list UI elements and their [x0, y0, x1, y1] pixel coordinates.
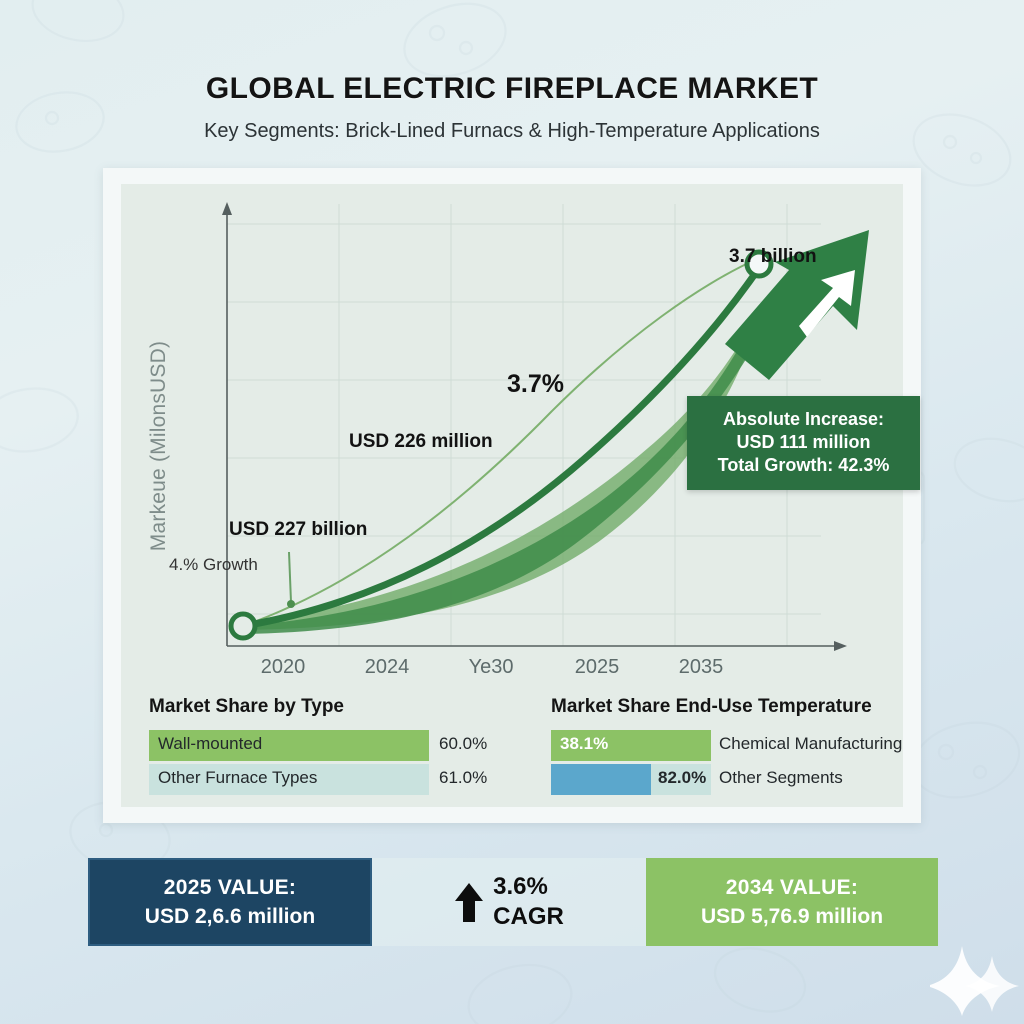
footer-left-line-2: USD 2,6.6 million — [145, 905, 315, 929]
legend-label-other-segments: Other Segments — [719, 768, 843, 788]
legend-left-title: Market Share by Type — [149, 696, 529, 718]
chart-card: Markeue (MilonsUSD) 3.7 billion 3.7% USD… — [103, 168, 921, 823]
footer-cagr-label: CAGR — [493, 903, 564, 931]
annotation-start-value: USD 227 billion — [229, 519, 367, 541]
header: GLOBAL ELECTRIC FIREPLACE MARKET Key Seg… — [0, 72, 1024, 143]
footer-2025-value-box: 2025 VALUE: USD 2,6.6 million — [88, 858, 372, 946]
sparkle-icon — [930, 940, 1020, 1020]
legend-label-other-furnace-types: Other Furnace Types — [158, 768, 317, 788]
annotation-start-growth: 4.% Growth — [169, 555, 258, 575]
legend-value-other-segments: 82.0% — [658, 768, 706, 788]
footer-cagr-box: 3.6% CAGR — [372, 858, 646, 946]
legend-row: 38.1% Chemical Manufacturing — [551, 730, 931, 761]
footer-right-line-2: USD 5,76.9 million — [701, 905, 883, 929]
x-tick-1: 2024 — [365, 656, 410, 679]
start-marker — [231, 614, 255, 638]
annotation-growth-rate: 3.7% — [507, 370, 564, 399]
y-axis-arrow — [222, 202, 232, 215]
y-axis-label: Markeue (MilonsUSD) — [147, 296, 171, 596]
page-subtitle: Key Segments: Brick-Lined Furnacs & High… — [0, 120, 1024, 143]
x-axis-ticks: 2020 2024 Ye30 2025 2035 — [121, 656, 903, 690]
chart-panel: Markeue (MilonsUSD) 3.7 billion 3.7% USD… — [121, 184, 903, 807]
legend-label-chemical-manufacturing: Chemical Manufacturing — [719, 734, 902, 754]
x-axis-arrow — [834, 641, 847, 651]
callout-line-2: USD 111 million — [697, 431, 910, 454]
page-title: GLOBAL ELECTRIC FIREPLACE MARKET — [0, 72, 1024, 106]
legend-right-title: Market Share End-Use Temperature — [551, 696, 931, 718]
legend-market-share-end-use: Market Share End-Use Temperature 38.1% C… — [551, 696, 931, 798]
legend-label-wall-mounted: Wall-mounted — [158, 734, 262, 754]
legend-bar-other-segments — [551, 764, 651, 795]
legend-value-wall-mounted: 60.0% — [439, 734, 487, 754]
annotation-mid-value: USD 226 million — [349, 431, 493, 453]
footer-summary: 2025 VALUE: USD 2,6.6 million 3.6% CAGR … — [88, 858, 938, 946]
x-tick-2: Ye30 — [469, 656, 514, 679]
legend-market-share-by-type: Market Share by Type Wall-mounted 60.0% … — [149, 696, 529, 798]
legend-value-chemical-manufacturing: 38.1% — [560, 734, 608, 754]
x-tick-3: 2025 — [575, 656, 620, 679]
x-tick-4: 2035 — [679, 656, 724, 679]
x-tick-0: 2020 — [261, 656, 306, 679]
footer-cagr-percent: 3.6% — [493, 873, 564, 901]
legend-row: Wall-mounted 60.0% — [149, 730, 529, 761]
up-arrow-icon — [454, 880, 484, 924]
legend-row: 82.0% Other Segments — [551, 764, 931, 795]
callout-line-3: Total Growth: 42.3% — [697, 454, 910, 477]
band-inner — [243, 306, 761, 634]
legend-value-other-furnace-types: 61.0% — [439, 768, 487, 788]
legend-row: Other Furnace Types 61.0% — [149, 764, 529, 795]
start-leader-line — [289, 552, 291, 602]
footer-right-line-1: 2034 VALUE: — [726, 876, 858, 900]
callout-box: Absolute Increase: USD 111 million Total… — [687, 396, 920, 490]
footer-left-line-1: 2025 VALUE: — [164, 876, 296, 900]
callout-line-1: Absolute Increase: — [697, 408, 910, 431]
footer-2034-value-box: 2034 VALUE: USD 5,76.9 million — [646, 858, 938, 946]
annotation-end-value: 3.7 billion — [729, 246, 817, 268]
